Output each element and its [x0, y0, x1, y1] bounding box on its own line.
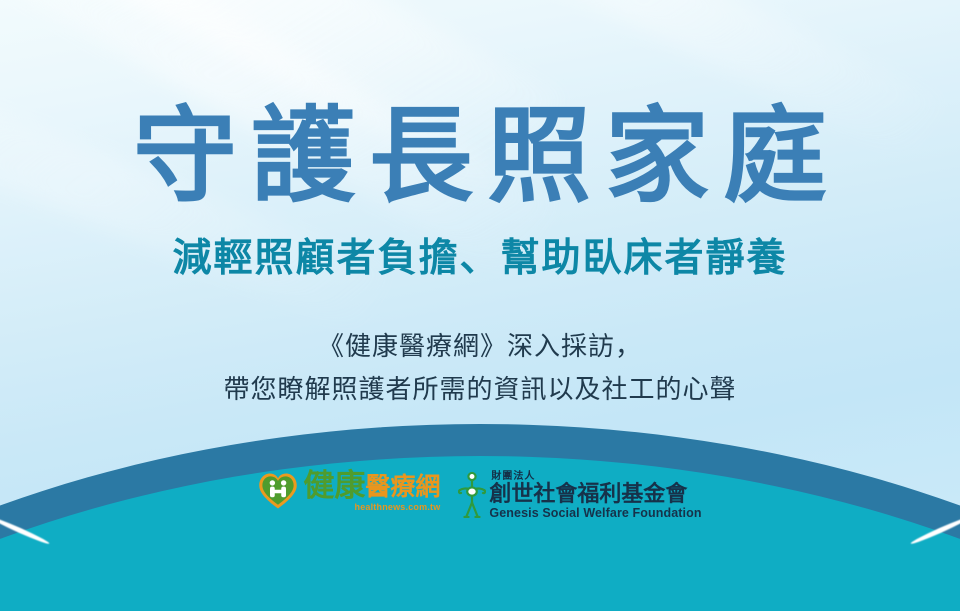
banner-subheadline: 減輕照顧者負擔、幫助臥床者靜養 — [0, 238, 960, 281]
healthnews-name-green: 健康 — [303, 470, 365, 501]
genesis-name-zh: 創世社會福利基金會 — [489, 482, 687, 505]
genesis-name-en: Genesis Social Welfare Foundation — [489, 506, 701, 521]
person-figure-icon — [458, 471, 486, 519]
heart-people-icon — [258, 471, 298, 511]
promo-banner: 守護長照家庭 減輕照顧者負擔、幫助臥床者靜養 《健康醫療網》深入採訪， 帶您瞭解… — [0, 0, 960, 611]
healthnews-wordmark: 健康 醫療網 healthnews.com.tw — [303, 470, 440, 512]
genesis-wordmark: 財團法人 創世社會福利基金會 Genesis Social Welfare Fo… — [489, 471, 701, 521]
healthnews-name-orange: 醫療網 — [365, 475, 440, 500]
banner-headline: 守護長照家庭 — [0, 105, 960, 209]
healthnews-url: healthnews.com.tw — [303, 502, 440, 512]
sponsor-logo-row: 健康 醫療網 healthnews.com.tw — [0, 470, 960, 521]
banner-body-copy: 《健康醫療網》深入採訪， 帶您瞭解照護者所需的資訊以及社工的心聲 — [0, 326, 960, 412]
healthnews-logo[interactable]: 健康 醫療網 healthnews.com.tw — [258, 470, 440, 512]
genesis-logo[interactable]: 財團法人 創世社會福利基金會 Genesis Social Welfare Fo… — [458, 470, 701, 521]
banner-body-line-2: 帶您瞭解照護者所需的資訊以及社工的心聲 — [0, 369, 960, 412]
banner-body-line-1: 《健康醫療網》深入採訪， — [0, 326, 960, 369]
